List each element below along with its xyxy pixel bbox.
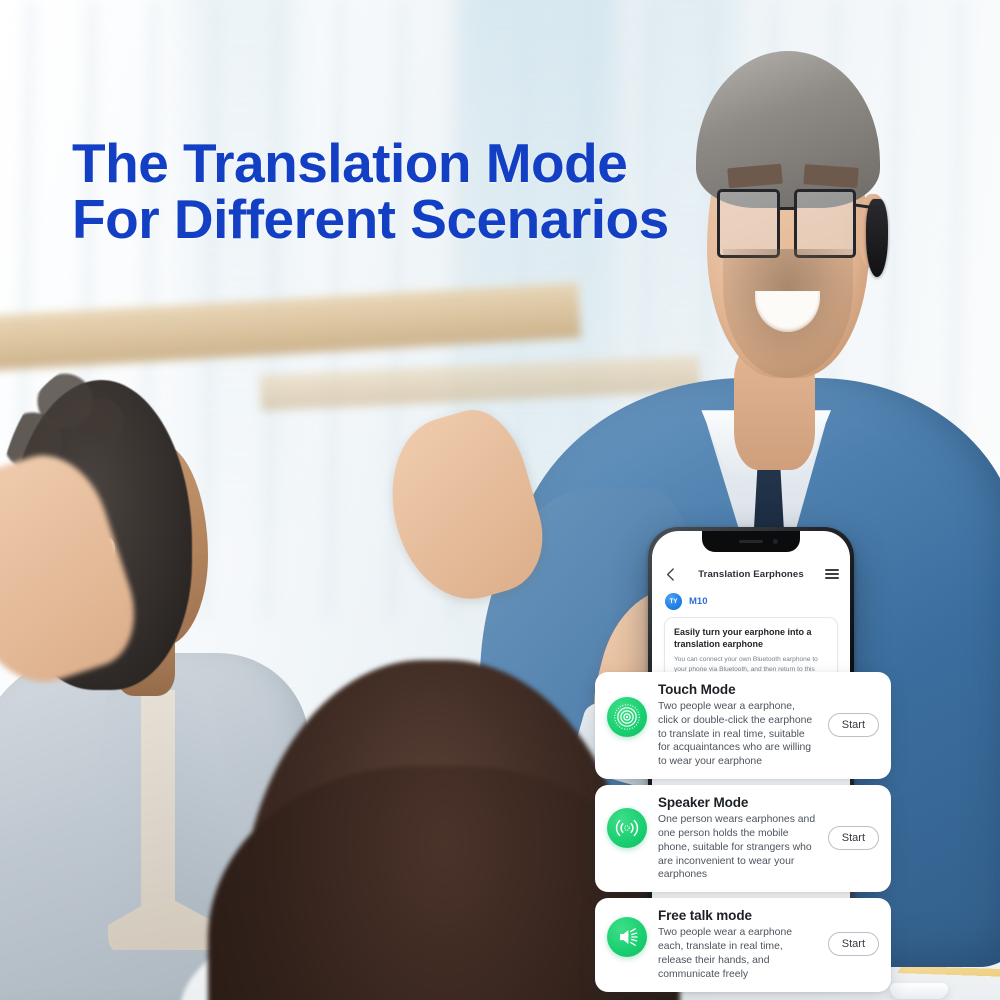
mode-card-touch[interactable]: Touch Mode Two people wear a earphone, c…	[595, 672, 891, 779]
app-title: Translation Earphones	[677, 569, 825, 580]
mode-title: Touch Mode	[658, 682, 817, 697]
mode-body: Free talk mode Two people wear a earphon…	[658, 907, 817, 981]
mode-description: One person wears earphones and one perso…	[658, 813, 817, 882]
coffee-cup	[890, 983, 948, 999]
speaker-volume-icon	[607, 917, 647, 957]
man-glasses	[712, 189, 869, 258]
mode-body: Touch Mode Two people wear a earphone, c…	[658, 681, 817, 769]
mode-card-speaker[interactable]: Speaker Mode One person wears earphones …	[595, 785, 891, 892]
mode-title: Speaker Mode	[658, 795, 817, 810]
info-card-title: Easily turn your earphone into a transla…	[674, 626, 828, 650]
chevron-left-icon[interactable]	[663, 567, 677, 581]
device-name: M10	[689, 596, 707, 607]
broadcast-waves-icon	[607, 808, 647, 848]
mode-description: Two people wear a earphone each, transla…	[658, 926, 817, 981]
mode-title: Free talk mode	[658, 908, 817, 923]
headline-line-1: The Translation Mode	[72, 132, 627, 194]
notepad-right	[897, 965, 1000, 977]
phone-notch	[702, 531, 800, 552]
earpiece-speaker	[739, 540, 763, 543]
mode-description: Two people wear a earphone, click or dou…	[658, 700, 817, 769]
banner-stage: The Translation Mode For Different Scena…	[0, 0, 1000, 1000]
page-headline: The Translation Mode For Different Scena…	[72, 78, 669, 305]
glasses-lens-right	[794, 189, 857, 258]
front-camera	[773, 539, 778, 544]
mode-card-list: Touch Mode Two people wear a earphone, c…	[595, 672, 891, 992]
glasses-bridge	[780, 207, 794, 210]
glasses-lens-left	[717, 189, 780, 258]
concentric-rings-touch-icon	[607, 697, 647, 737]
device-avatar: TY	[665, 593, 682, 610]
connected-device-row[interactable]: TY M10	[665, 593, 707, 610]
start-button-speaker[interactable]: Start	[828, 826, 879, 850]
headline-line-2: For Different Scenarios	[72, 191, 669, 248]
start-button-touch[interactable]: Start	[828, 713, 879, 737]
hamburger-menu-icon[interactable]	[825, 569, 839, 579]
app-header: Translation Earphones	[652, 561, 850, 587]
start-button-free-talk[interactable]: Start	[828, 932, 879, 956]
bluetooth-earpiece	[866, 199, 888, 277]
mode-body: Speaker Mode One person wears earphones …	[658, 794, 817, 882]
mode-card-free-talk[interactable]: Free talk mode Two people wear a earphon…	[595, 898, 891, 991]
